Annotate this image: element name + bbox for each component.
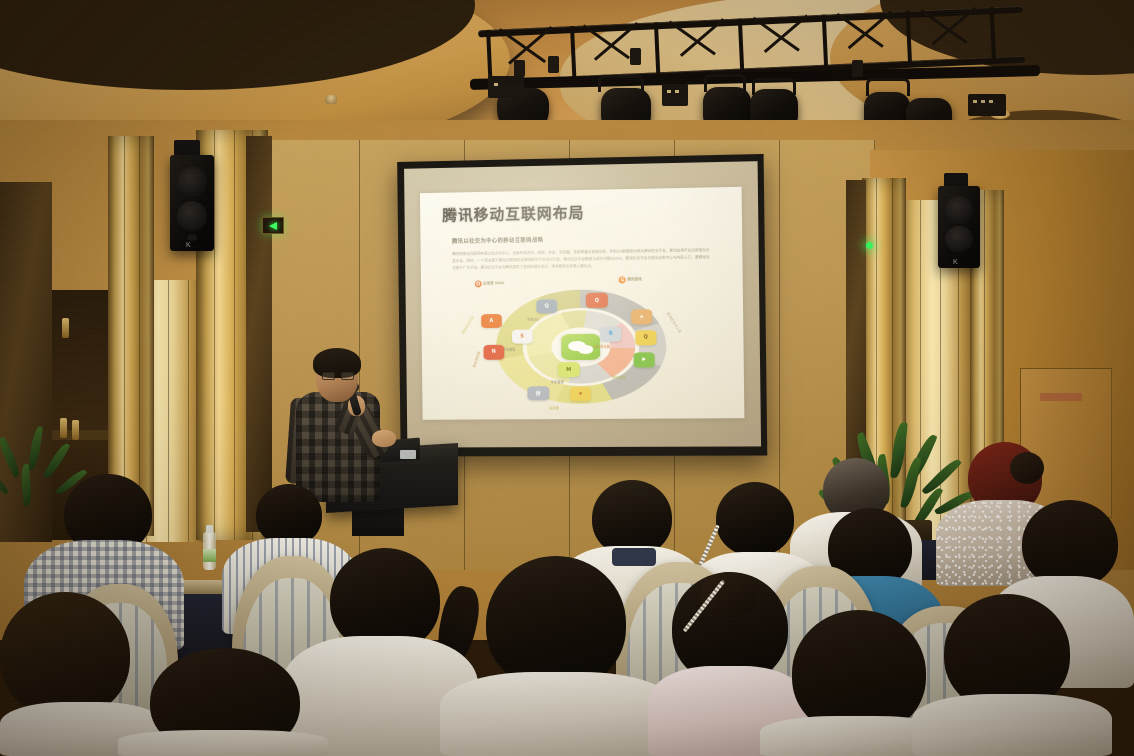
app-icon-appstore: A (481, 314, 502, 328)
projection-screen-surface: 腾讯移动互联网布局 腾讯以社交为中心的移动互联网战略 腾讯的移动互联网布局以社交… (404, 161, 761, 447)
projection-screen: 腾讯移动互联网布局 腾讯以社交为中心的移动互联网战略 腾讯的移动互联网布局以社交… (397, 154, 767, 457)
app-icon-mobile-qq: Q (536, 299, 557, 314)
app-label-qq-browser: QQ浏览器 (594, 344, 610, 349)
speaker-right: K (938, 186, 980, 268)
ring-label-top-left: 移动社交平台 (461, 315, 476, 335)
app-icon-security: M (558, 362, 579, 376)
app-icon-qq-browser: B (600, 327, 621, 342)
app-icon-sogou: S (512, 329, 533, 343)
sprinkler-icon-1 (325, 95, 337, 104)
speaker-bracket-left (174, 140, 200, 156)
glasses-icon (322, 372, 356, 380)
column-left-shadow (246, 136, 272, 532)
app-icon-news: N (483, 345, 504, 359)
app-icon-music: ★ (570, 387, 591, 401)
attendee-12-head (1022, 500, 1118, 588)
ring-label-right-lower: 移动视频 (612, 375, 626, 380)
exit-arrow-icon (269, 222, 277, 230)
door-sign (1040, 393, 1082, 401)
slide-body-text: 腾讯的移动互联网布局以社交为中心，全面布局游戏、视频、安全、浏览器、导航等重点领… (452, 247, 710, 272)
speaker-bracket-right (944, 173, 968, 187)
attendee-9-collar (612, 548, 656, 566)
presenter-right-hand (372, 430, 396, 447)
speaker-brand-right: K (953, 259, 958, 266)
app-icon-pinyin: 拼 (528, 386, 549, 400)
speaker-brand-left: K (186, 242, 191, 249)
attendee-3-body (440, 672, 676, 756)
attendee-15-body (118, 730, 328, 756)
speaker-left: K (170, 155, 214, 251)
logo-left-mark: O (475, 281, 482, 288)
laptop-screen-edge (400, 450, 416, 459)
app-icon-map: ★ (631, 310, 653, 325)
slide-title: 腾讯移动互联网布局 (442, 202, 584, 226)
dimmer-box-3 (968, 94, 1006, 116)
truss-clamp-2 (548, 56, 559, 73)
ring-label-left: 移动浏览器 (472, 351, 482, 369)
truss-clamp-4 (852, 60, 863, 77)
attendee-8-head (0, 592, 130, 718)
water-bottle[interactable] (203, 532, 216, 570)
slide-subtitle: 腾讯以社交为中心的移动互联网战略 (452, 236, 543, 245)
attendee-14-bun (1010, 452, 1044, 484)
dimmer-box-1 (488, 76, 524, 98)
app-label-sogou: 移动搜索 (502, 346, 515, 351)
truss-clamp-3 (630, 48, 641, 65)
conference-photo: K K 腾讯移动互联网布局 腾讯以社交为中心的移动互联网战略 腾讯的移动互联网布… (0, 0, 1134, 756)
shelf-bottle-1 (62, 318, 69, 338)
app-icon-qzone: Q (635, 330, 657, 345)
strategy-wheel-diagram: Q 手机QQ Q S 移动搜索 B QQ浏览器 A N ★ Q ▶ M 手机管家… (484, 280, 679, 412)
attendee-3-head (486, 556, 626, 690)
app-label-security: 手机管家 (551, 380, 565, 385)
app-icon-qq-penguin: Q (586, 293, 607, 308)
exit-indicator-right (866, 242, 873, 249)
dimmer-box-2 (662, 84, 688, 106)
app-icon-video: ▶ (633, 353, 655, 368)
attendee-9-head (592, 480, 672, 556)
attendee-6-body (912, 694, 1112, 756)
exit-sign-left (262, 217, 284, 234)
app-label-appstore: 应用宝 (549, 406, 559, 411)
presentation-slide: 腾讯移动互联网布局 腾讯以社交为中心的移动互联网战略 腾讯的移动互联网布局以社交… (420, 187, 745, 419)
attendee-10-head (716, 482, 794, 556)
attendee-7-head (256, 484, 322, 546)
ring-label-right: 移动安全与工具 (666, 311, 683, 334)
app-label-mobile-qq: 手机QQ (527, 316, 539, 321)
